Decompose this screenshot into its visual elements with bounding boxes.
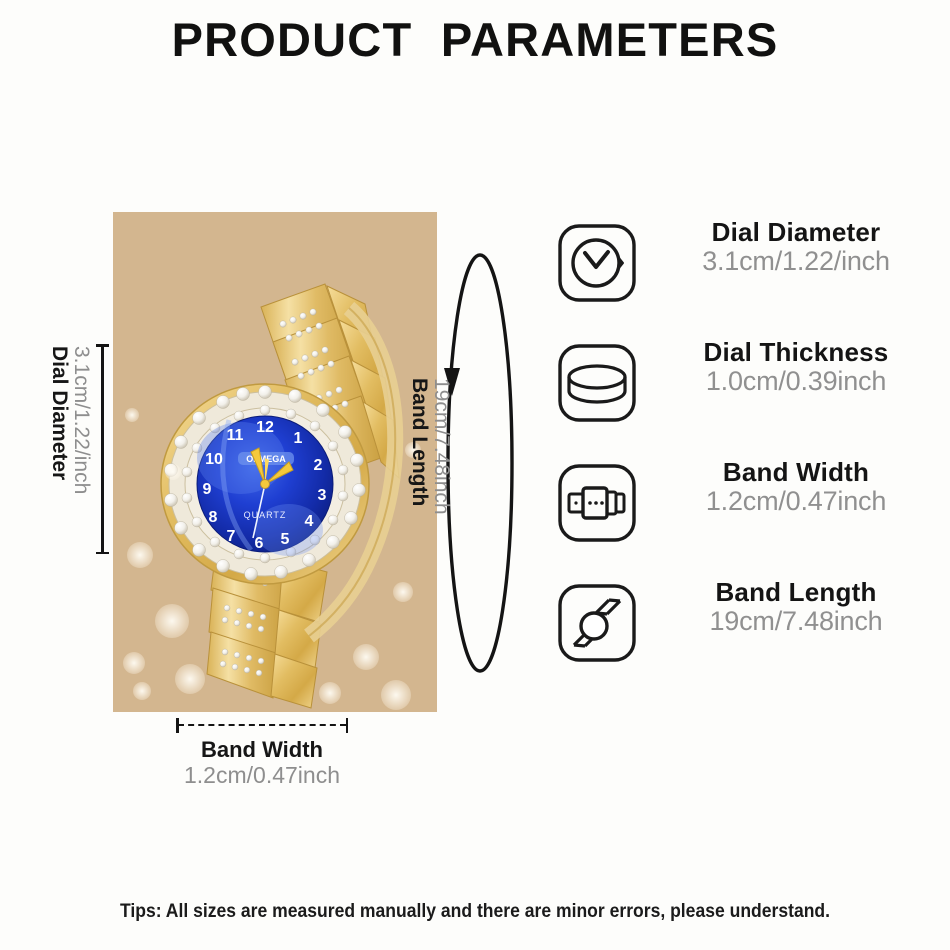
spec-value: 3.1cm/1.22/inch	[660, 247, 932, 277]
watch-band-buckle-icon	[556, 462, 638, 544]
band-length-annotation: 19cm/7.48inch Band Length	[408, 378, 453, 515]
spec-value: 19cm/7.48inch	[660, 607, 932, 637]
svg-text:11: 11	[227, 427, 244, 444]
spec-label: Dial Diameter	[660, 218, 932, 247]
svg-text:6: 6	[255, 535, 264, 552]
svg-text:5: 5	[281, 531, 290, 548]
svg-text:8: 8	[209, 509, 218, 526]
band-width-measure-line	[176, 718, 348, 734]
dial-diameter-annotation: 3.1cm/1.22/inch Dial Diameter	[48, 346, 93, 494]
spec-row-band-width: Band Width 1.2cm/0.47inch	[556, 458, 936, 578]
tips-note: Tips: All sizes are measured manually an…	[48, 900, 903, 923]
spec-value: 1.0cm/0.39inch	[660, 367, 932, 397]
svg-text:9: 9	[203, 481, 212, 498]
svg-text:1: 1	[294, 430, 303, 447]
product-photo: 12 1 2 3 4 5 6 7 8 9 10 11 OLMEGA QUARTZ	[113, 212, 437, 712]
spec-label: Band Length	[660, 578, 932, 607]
band-length-annotation-label: Band Length	[408, 378, 430, 515]
product-parameters-page: PRODUCT PARAMETERS	[0, 0, 950, 950]
page-title: PRODUCT PARAMETERS	[0, 12, 950, 67]
spec-label: Band Width	[660, 458, 932, 487]
band-width-annotation-value: 1.2cm/0.47inch	[110, 763, 414, 789]
spec-value: 1.2cm/0.47inch	[660, 487, 932, 517]
spec-row-band-length: Band Length 19cm/7.48inch	[556, 578, 936, 698]
svg-text:3: 3	[318, 487, 327, 504]
svg-text:12: 12	[256, 419, 274, 436]
watch-illustration: 12 1 2 3 4 5 6 7 8 9 10 11 OLMEGA QUARTZ	[113, 212, 437, 712]
spec-row-dial-diameter: Dial Diameter 3.1cm/1.22/inch	[556, 218, 936, 338]
spec-label: Dial Thickness	[660, 338, 932, 367]
svg-text:4: 4	[305, 513, 314, 530]
svg-text:QUARTZ: QUARTZ	[244, 510, 287, 520]
dial-diameter-annotation-label: Dial Diameter	[48, 346, 70, 494]
disc-thickness-icon	[556, 342, 638, 424]
watch-face-icon	[556, 222, 638, 304]
svg-text:10: 10	[205, 451, 223, 468]
band-width-annotation-label: Band Width	[110, 738, 414, 763]
band-width-annotation: Band Width 1.2cm/0.47inch	[110, 738, 414, 788]
dial-diameter-annotation-value: 3.1cm/1.22/inch	[70, 346, 92, 494]
dial-diameter-caliper	[96, 344, 108, 554]
spec-row-dial-thickness: Dial Thickness 1.0cm/0.39inch	[556, 338, 936, 458]
band-length-annotation-value: 19cm/7.48inch	[430, 378, 452, 515]
svg-text:7: 7	[227, 528, 236, 545]
watch-diagonal-strap-icon	[556, 582, 638, 664]
svg-text:2: 2	[314, 457, 323, 474]
spec-list: Dial Diameter 3.1cm/1.22/inch Dial Thick…	[556, 218, 936, 698]
